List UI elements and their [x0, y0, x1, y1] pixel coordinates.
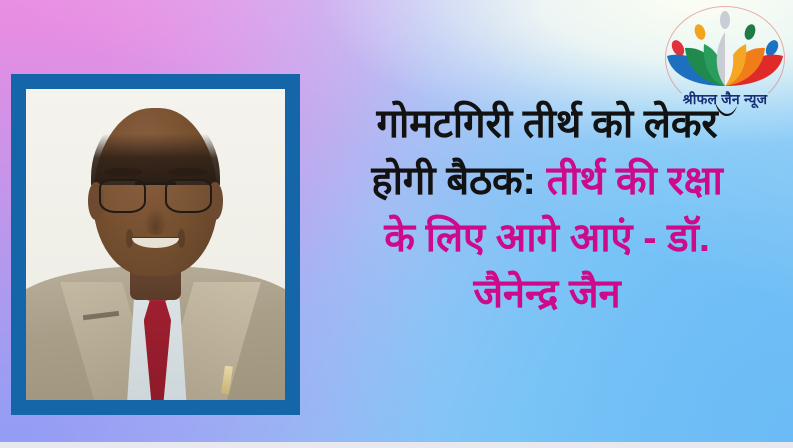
portrait-illustration — [26, 89, 285, 400]
headline-text: गोमटगिरी तीर्थ को लेकर होगी बैठक: तीर्थ … — [306, 96, 788, 323]
logo-swoosh-icon — [713, 102, 739, 120]
leaf-left-amber-icon — [693, 23, 707, 41]
headline-line-2: होगी बैठक: तीर्थ की रक्षा — [306, 153, 788, 210]
lotus-logo-icon — [661, 6, 789, 88]
headline-line-3: के लिए आगे आएं - डॉ. — [306, 210, 788, 267]
eyebrow-left — [104, 168, 143, 176]
bottom-strip — [0, 442, 793, 448]
leaf-top-silver-icon — [720, 11, 730, 29]
leaf-right-green-icon — [743, 23, 757, 41]
headline-line-2-dark: होगी बैठक: — [371, 159, 535, 203]
news-graphic-card: गोमटगिरी तीर्थ को लेकर होगी बैठक: तीर्थ … — [0, 0, 793, 448]
portrait-photo-frame — [11, 74, 300, 415]
eyeglass-bridge — [135, 182, 176, 185]
headline-line-4: जैनेन्द्र जैन — [306, 266, 788, 323]
headline-line-2-accent: तीर्थ की रक्षा — [536, 159, 723, 203]
brand-logo: श्रीफल जैन न्यूज — [661, 2, 789, 118]
portrait-photo — [26, 89, 285, 400]
